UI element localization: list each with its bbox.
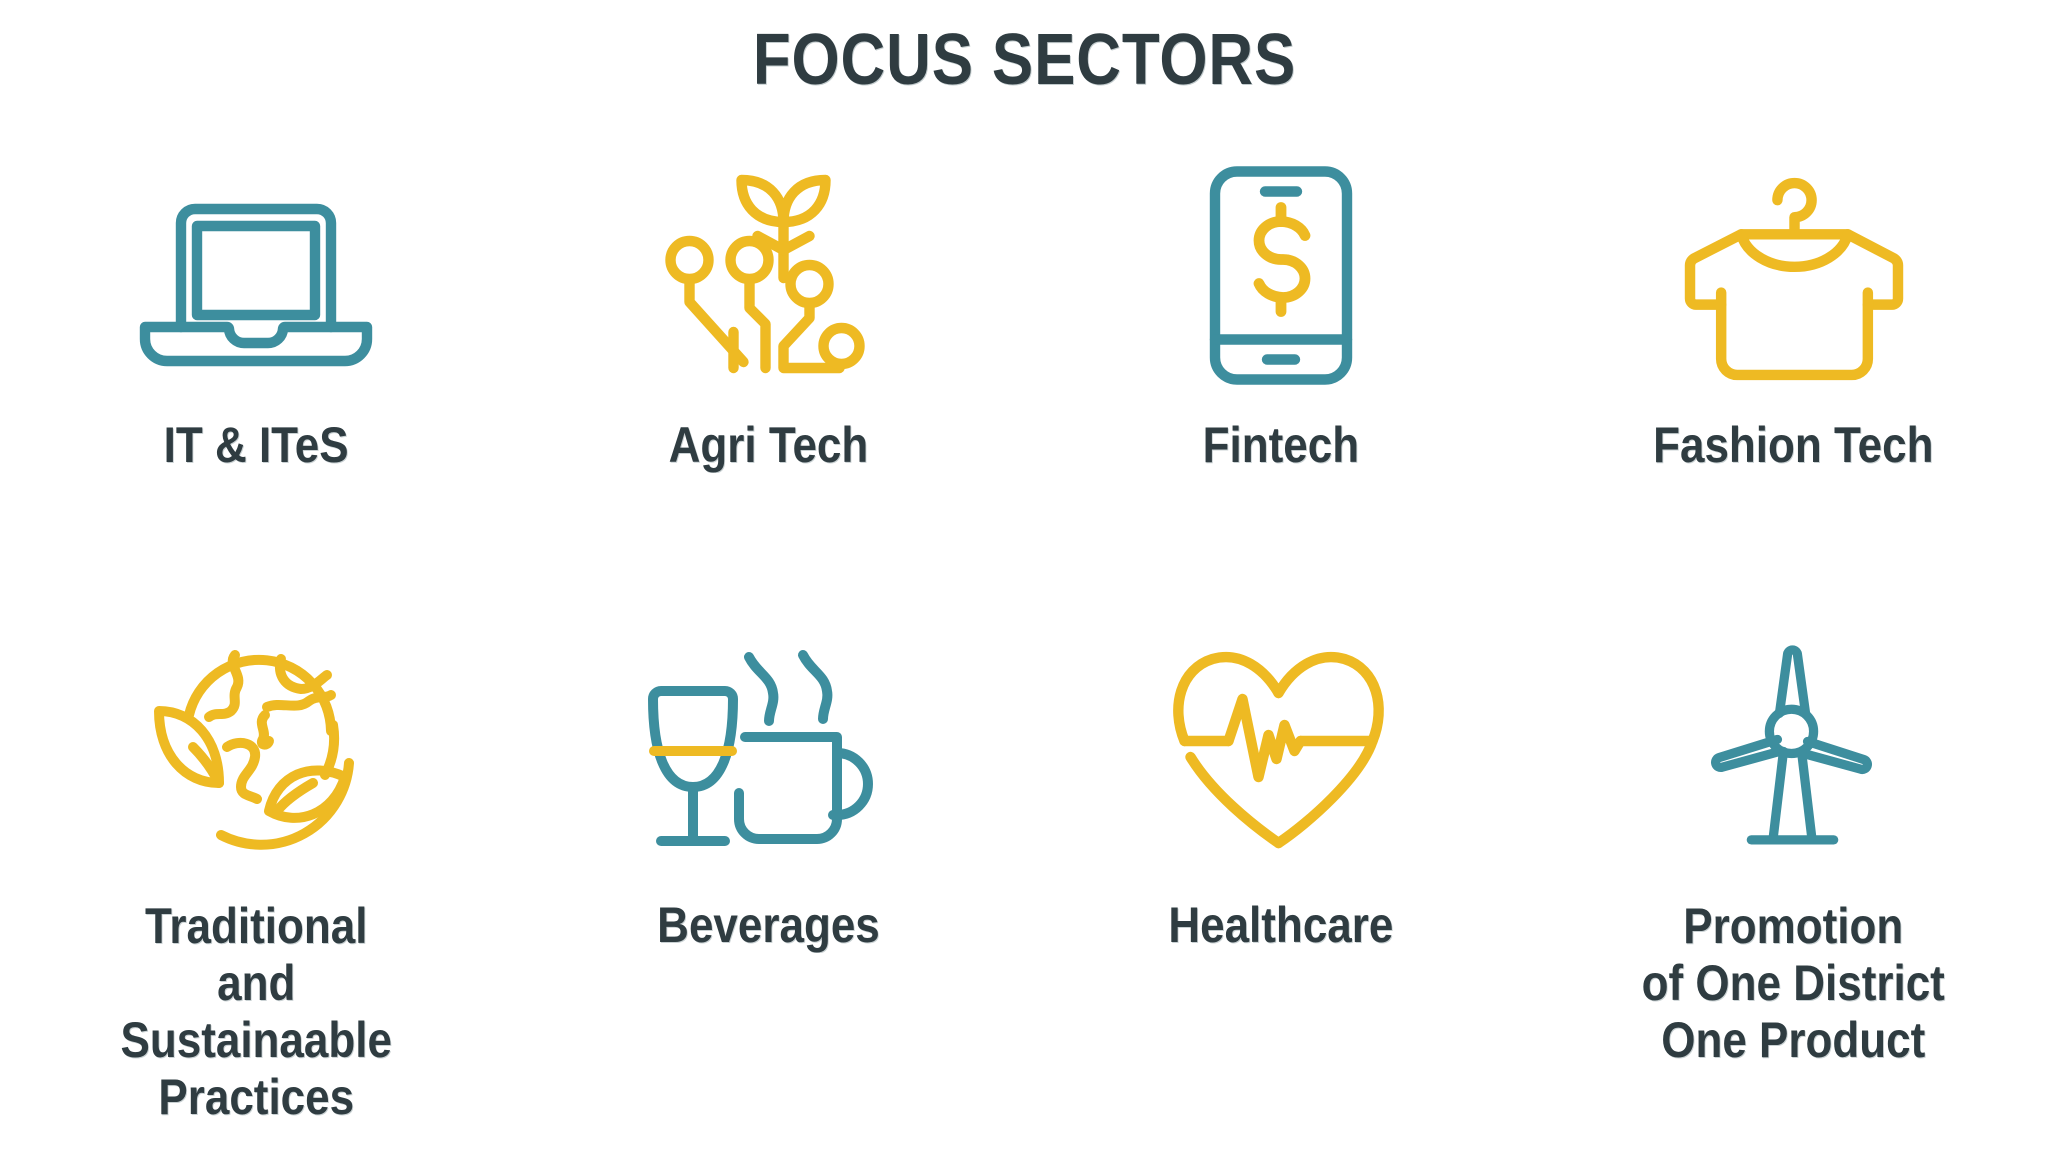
wind-turbine-icon xyxy=(1695,643,1890,858)
sector-label: Traditional and Sustainaable Practices xyxy=(120,898,391,1126)
tshirt-hanger-icon xyxy=(1685,168,1900,383)
page-title: FOCUS SECTORS xyxy=(143,18,1905,102)
glass-mug-icon-box xyxy=(643,620,893,880)
laptop-icon xyxy=(131,175,381,375)
agri-circuit-icon-box xyxy=(661,150,876,400)
sector-label: Promotion of One District One Product xyxy=(1641,898,1944,1069)
sector-beverages[interactable]: Beverages xyxy=(533,620,1003,953)
sector-fintech[interactable]: Fintech xyxy=(1046,150,1516,473)
sector-it-ites[interactable]: IT & ITeS xyxy=(21,150,491,473)
sectors-row-1: IT & ITeS xyxy=(0,150,2049,590)
sector-agri-tech[interactable]: Agri Tech xyxy=(533,150,1003,473)
sector-label: Beverages xyxy=(657,898,880,953)
sectors-grid: IT & ITeS xyxy=(0,150,2049,1150)
heart-pulse-icon-box xyxy=(1168,620,1393,880)
focus-sectors-infographic: FOCUS SECTORS IT & ITeS xyxy=(0,0,2049,1152)
sector-fashion-tech[interactable]: Fashion Tech xyxy=(1558,150,2028,473)
sectors-row-2: Traditional and Sustainaable Practices xyxy=(0,620,2049,1140)
sector-label: Healthcare xyxy=(1168,898,1393,953)
mobile-dollar-icon xyxy=(1201,163,1361,388)
sector-label: IT & ITeS xyxy=(164,418,349,473)
agri-circuit-icon xyxy=(661,160,876,390)
mobile-dollar-icon-box xyxy=(1201,150,1361,400)
globe-leaf-icon-box xyxy=(141,620,371,880)
sector-label: Fintech xyxy=(1202,418,1358,473)
glass-mug-icon xyxy=(643,635,893,865)
sector-label: Fashion Tech xyxy=(1653,418,1933,473)
tshirt-hanger-icon-box xyxy=(1685,150,1900,400)
globe-leaf-icon xyxy=(141,635,371,865)
sector-label: Agri Tech xyxy=(669,418,869,473)
heart-pulse-icon xyxy=(1168,645,1393,855)
sector-traditional-sustainable[interactable]: Traditional and Sustainaable Practices xyxy=(21,620,491,1126)
laptop-icon-box xyxy=(131,150,381,400)
wind-turbine-icon-box xyxy=(1695,620,1890,880)
sector-odop[interactable]: Promotion of One District One Product xyxy=(1558,620,2028,1069)
sector-healthcare[interactable]: Healthcare xyxy=(1046,620,1516,953)
